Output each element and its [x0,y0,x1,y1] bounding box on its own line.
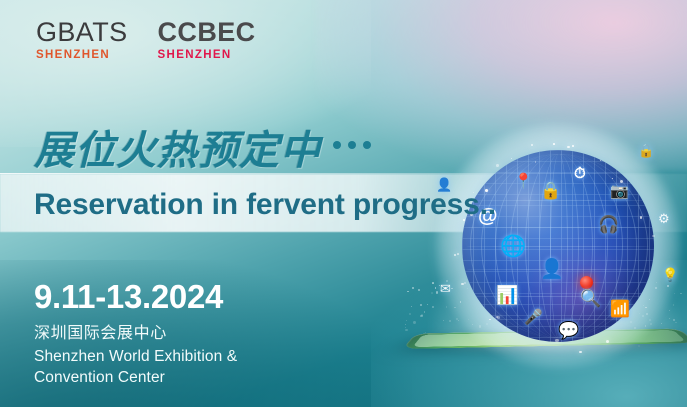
logo-gbats-name: GBATS [36,18,128,46]
search-icon: 🔍 [580,290,601,307]
lock-icon: 🔒 [540,182,561,199]
globe-hotspot-marker [580,276,593,289]
orbit-mail-icon: ✉ [440,282,451,295]
venue-english-l1: Shenzhen World Exhibition & [34,346,237,367]
globe-sparkle [535,161,536,162]
logo-ccbec: CCBEC SHENZHEN [158,18,256,61]
subtitle-english: Reservation in fervent progress.. [34,188,496,222]
headline-chinese: 展位火热预定中 [34,118,321,176]
wifi-icon: 📶 [610,302,630,318]
event-date: 9.11-13.2024 [34,278,223,316]
clock-icon: ⏱ [574,166,586,181]
headset-icon: 🎧 [598,216,619,233]
venue-chinese: 深圳国际会展中心 [34,322,237,346]
user-icon: 👤 [540,260,564,279]
globe-graphic: @🔒⏱📷🎧🌐👤📊🎤💬🔍📶📍 👤⚙💡🔒✉ [462,150,654,342]
globe-sparkle [555,339,558,342]
logo-row: GBATS SHENZHEN CCBEC SHENZHEN [36,18,256,61]
map-pin-icon: 📍 [514,174,533,189]
globe-grid-icon: 🌐 [500,236,526,257]
promo-banner: @🔒⏱📷🎧🌐👤📊🎤💬🔍📶📍 👤⚙💡🔒✉ GBATS SHENZHEN CCBEC… [0,0,687,407]
venue-block: 深圳国际会展中心 Shenzhen World Exhibition & Con… [34,322,237,388]
globe-sparkle [553,143,555,145]
microphone-icon: 🎤 [524,310,543,325]
globe-sparkle [606,340,609,343]
logo-ccbec-subtitle: SHENZHEN [158,49,256,61]
chat-bubble-icon: 💬 [558,322,579,339]
orbit-gear-icon: ⚙ [658,212,670,225]
globe-sparkle [496,164,499,167]
bar-chart-icon: 📊 [496,286,518,304]
logo-gbats: GBATS SHENZHEN [36,18,128,61]
venue-english-l2: Convention Center [34,367,237,388]
orbit-lock-icon: 🔒 [638,144,654,157]
orbit-bulb-icon: 💡 [662,268,678,281]
logo-gbats-subtitle: SHENZHEN [36,49,128,61]
headline: 展位火热预定中 [34,118,371,176]
globe-sparkle [645,307,646,308]
logo-ccbec-name: CCBEC [158,18,256,46]
camera-icon: 📷 [610,184,629,199]
headline-ellipsis-dots [333,141,371,149]
